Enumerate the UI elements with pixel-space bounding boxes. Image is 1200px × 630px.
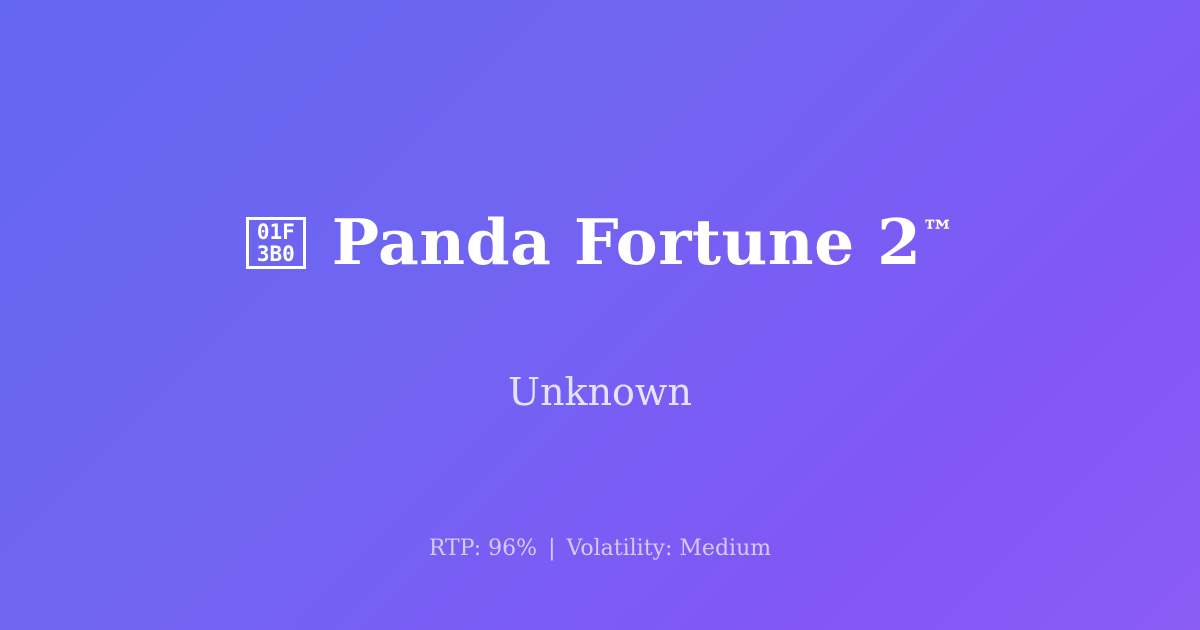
rtp-value: 96% [488,536,537,561]
title-row: 01F 3B0 Panda Fortune 2™ [246,168,954,318]
og-share-card: 01F 3B0 Panda Fortune 2™ Unknown RTP: 96… [0,0,1200,630]
meta-separator: | [544,536,559,561]
volatility-label: Volatility: [567,536,673,561]
trademark-symbol: ™ [921,213,954,252]
glyph-codepoint-row-bottom: 3B0 [257,243,295,265]
rtp-label: RTP: [429,536,481,561]
volatility-value: Medium [679,536,771,561]
glyph-codepoint-row-top: 01F [257,221,295,243]
game-provider-subtitle: Unknown [508,370,692,416]
game-stats-meta: RTP: 96% | Volatility: Medium [0,536,1200,562]
game-title-text: Panda Fortune 2 [332,205,922,279]
slot-machine-icon: 01F 3B0 [246,217,306,269]
page-title: Panda Fortune 2™ [332,210,954,276]
